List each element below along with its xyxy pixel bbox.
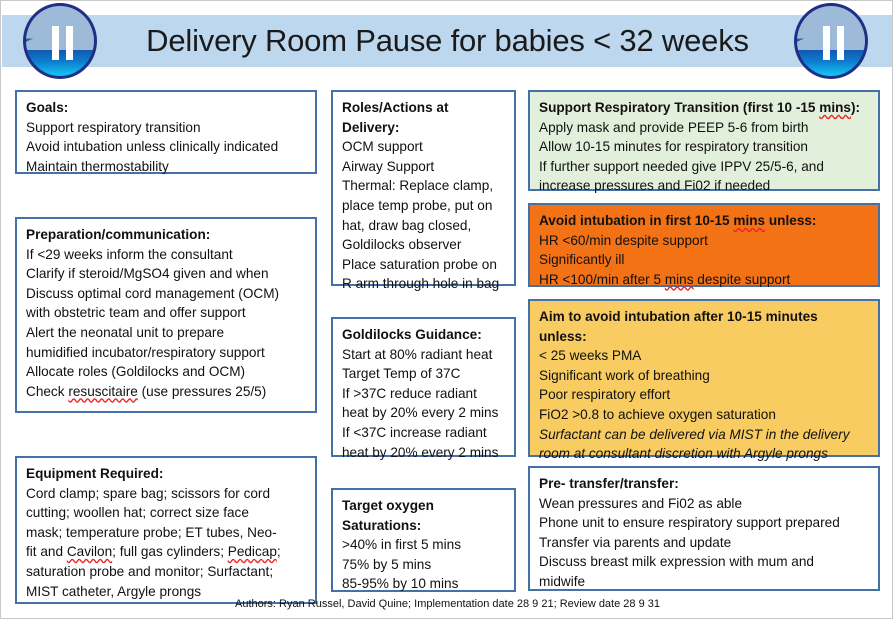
card-avoid-intubation: Avoid intubation in first 10-15 mins unl…	[528, 203, 880, 287]
card-equipment-required: Equipment Required: Cord clamp; spare ba…	[15, 456, 317, 604]
card-line: If >37C reduce radiant	[342, 384, 505, 404]
card-heading: Roles/Actions at	[342, 98, 505, 118]
card-line: Discuss breast milk expression with mum …	[539, 552, 869, 572]
card-line: FiO2 >0.8 to achieve oxygen saturation	[539, 405, 869, 425]
card-line: fit and Cavilon; full gas cylinders; Ped…	[26, 542, 306, 562]
card-line: Support respiratory transition	[26, 118, 306, 138]
text-fragment: HR <100/min after 5	[539, 272, 665, 287]
card-pre-transfer: Pre- transfer/transfer: Wean pressures a…	[528, 466, 880, 591]
pause-icon-right	[794, 3, 868, 79]
card-line: Alert the neonatal unit to prepare	[26, 323, 306, 343]
card-line: Poor respiratory effort	[539, 385, 869, 405]
card-line: Airway Support	[342, 157, 505, 177]
card-line: Thermal: Replace clamp,	[342, 176, 505, 196]
card-heading: Preparation/communication:	[26, 225, 306, 245]
card-line: HR <60/min despite support	[539, 231, 869, 251]
card-line: Allocate roles (Goldilocks and OCM)	[26, 362, 306, 382]
card-line: place temp probe, put on	[342, 196, 505, 216]
card-line: heat by 20% every 2 mins	[342, 403, 505, 423]
text-fragment: ;	[277, 544, 281, 559]
card-heading: Avoid intubation in first 10-15 mins unl…	[539, 211, 869, 231]
card-line: 75% by 5 mins	[342, 555, 505, 575]
card-line: Discuss optimal cord management (OCM)	[26, 284, 306, 304]
spellcheck-word: resuscitaire	[68, 384, 138, 399]
card-line-italic: Surfactant can be delivered via MIST in …	[539, 425, 869, 445]
spellcheck-word: Pedicap	[228, 544, 277, 559]
card-line: < 25 weeks PMA	[539, 346, 869, 366]
pause-icon-left	[23, 3, 97, 79]
card-line: Check resuscitaire (use pressures 25/5)	[26, 382, 306, 402]
card-line: heat by 20% every 2 mins	[342, 443, 505, 463]
pause-icon-wave	[794, 34, 868, 50]
card-heading: Target oxygen	[342, 496, 505, 516]
card-goals: Goals: Support respiratory transition Av…	[15, 90, 317, 174]
card-line: >40% in first 5 mins	[342, 535, 505, 555]
text-fragment: Check	[26, 384, 68, 399]
poster-canvas: Delivery Room Pause for babies < 32 week…	[0, 0, 893, 619]
page-title: Delivery Room Pause for babies < 32 week…	[111, 17, 784, 65]
card-line: Cord clamp; spare bag; scissors for cord	[26, 484, 306, 504]
card-line: Phone unit to ensure respiratory support…	[539, 513, 869, 533]
card-line: R arm through hole in bag	[342, 274, 505, 294]
card-line: Place saturation probe on	[342, 255, 505, 275]
card-line: OCM support	[342, 137, 505, 157]
card-support-respiratory-transition: Support Respiratory Transition (first 10…	[528, 90, 880, 191]
card-heading: unless:	[539, 327, 869, 347]
spellcheck-word: mins	[733, 213, 765, 228]
text-fragment: (use pressures 25/5)	[138, 384, 266, 399]
card-line: with obstetric team and offer support	[26, 303, 306, 323]
card-line: hat, draw bag closed,	[342, 216, 505, 236]
spellcheck-word: mins	[665, 272, 694, 287]
card-roles-actions-at-delivery: Roles/Actions at Delivery: OCM support A…	[331, 90, 516, 286]
card-heading: Goldilocks Guidance:	[342, 325, 505, 345]
spellcheck-word: mins	[819, 100, 851, 115]
card-heading: Support Respiratory Transition (first 10…	[539, 98, 869, 118]
pause-icon-bar-2	[66, 26, 73, 60]
pause-icon-bar-1	[823, 26, 830, 60]
card-line: Transfer via parents and update	[539, 533, 869, 553]
card-line: Significant work of breathing	[539, 366, 869, 386]
card-line: If further support needed give IPPV 25/5…	[539, 157, 869, 177]
card-line: Target Temp of 37C	[342, 364, 505, 384]
card-line: Avoid intubation unless clinically indic…	[26, 137, 306, 157]
text-fragment: unless:	[765, 213, 816, 228]
card-line: mask; temperature probe; ET tubes, Neo-	[26, 523, 306, 543]
card-line: saturation probe and monitor; Surfactant…	[26, 562, 306, 582]
card-line: midwife	[539, 572, 869, 592]
text-fragment: Avoid intubation in first 10-15	[539, 213, 733, 228]
card-line: increase pressures and Fi02 if needed	[539, 176, 869, 196]
card-line: cutting; woollen hat; correct size face	[26, 503, 306, 523]
pause-icon-bar-1	[52, 26, 59, 60]
text-fragment: ):	[851, 100, 860, 115]
card-heading: Equipment Required:	[26, 464, 306, 484]
text-fragment: despite support	[694, 272, 791, 287]
card-line: If <29 weeks inform the consultant	[26, 245, 306, 265]
card-heading: Aim to avoid intubation after 10-15 minu…	[539, 307, 869, 327]
card-line: humidified incubator/respiratory support	[26, 343, 306, 363]
card-line: If <37C increase radiant	[342, 423, 505, 443]
card-line: Apply mask and provide PEEP 5-6 from bir…	[539, 118, 869, 138]
card-goldilocks-guidance: Goldilocks Guidance: Start at 80% radian…	[331, 317, 516, 457]
card-heading: Saturations:	[342, 516, 505, 536]
card-line: Start at 80% radiant heat	[342, 345, 505, 365]
text-fragment: ; full gas cylinders;	[112, 544, 228, 559]
card-line: HR <100/min after 5 mins despite support	[539, 270, 869, 290]
card-heading: Delivery:	[342, 118, 505, 138]
card-line-italic: room at consultant discretion with Argyl…	[539, 444, 869, 464]
card-aim-to-avoid-intubation: Aim to avoid intubation after 10-15 minu…	[528, 299, 880, 457]
pause-icon-bar-2	[837, 26, 844, 60]
card-line: Goldilocks observer	[342, 235, 505, 255]
card-line: Allow 10-15 minutes for respiratory tran…	[539, 137, 869, 157]
card-heading: Pre- transfer/transfer:	[539, 474, 869, 494]
card-heading: Goals:	[26, 98, 306, 118]
card-line: 85-95% by 10 mins	[342, 574, 505, 594]
pause-icon-wave	[23, 34, 97, 50]
card-line: Wean pressures and Fi02 as able	[539, 494, 869, 514]
card-target-oxygen-saturations: Target oxygen Saturations: >40% in first…	[331, 488, 516, 592]
card-line: Maintain thermostability	[26, 157, 306, 177]
card-preparation-communication: Preparation/communication: If <29 weeks …	[15, 217, 317, 413]
spellcheck-word: Cavilon	[67, 544, 112, 559]
card-line: Clarify if steroid/MgSO4 given and when	[26, 264, 306, 284]
text-fragment: Support Respiratory Transition (first 10…	[539, 100, 819, 115]
card-line: Significantly ill	[539, 250, 869, 270]
footer-authors: Authors: Ryan Russel, David Quine; Imple…	[1, 598, 893, 610]
text-fragment: fit and	[26, 544, 67, 559]
